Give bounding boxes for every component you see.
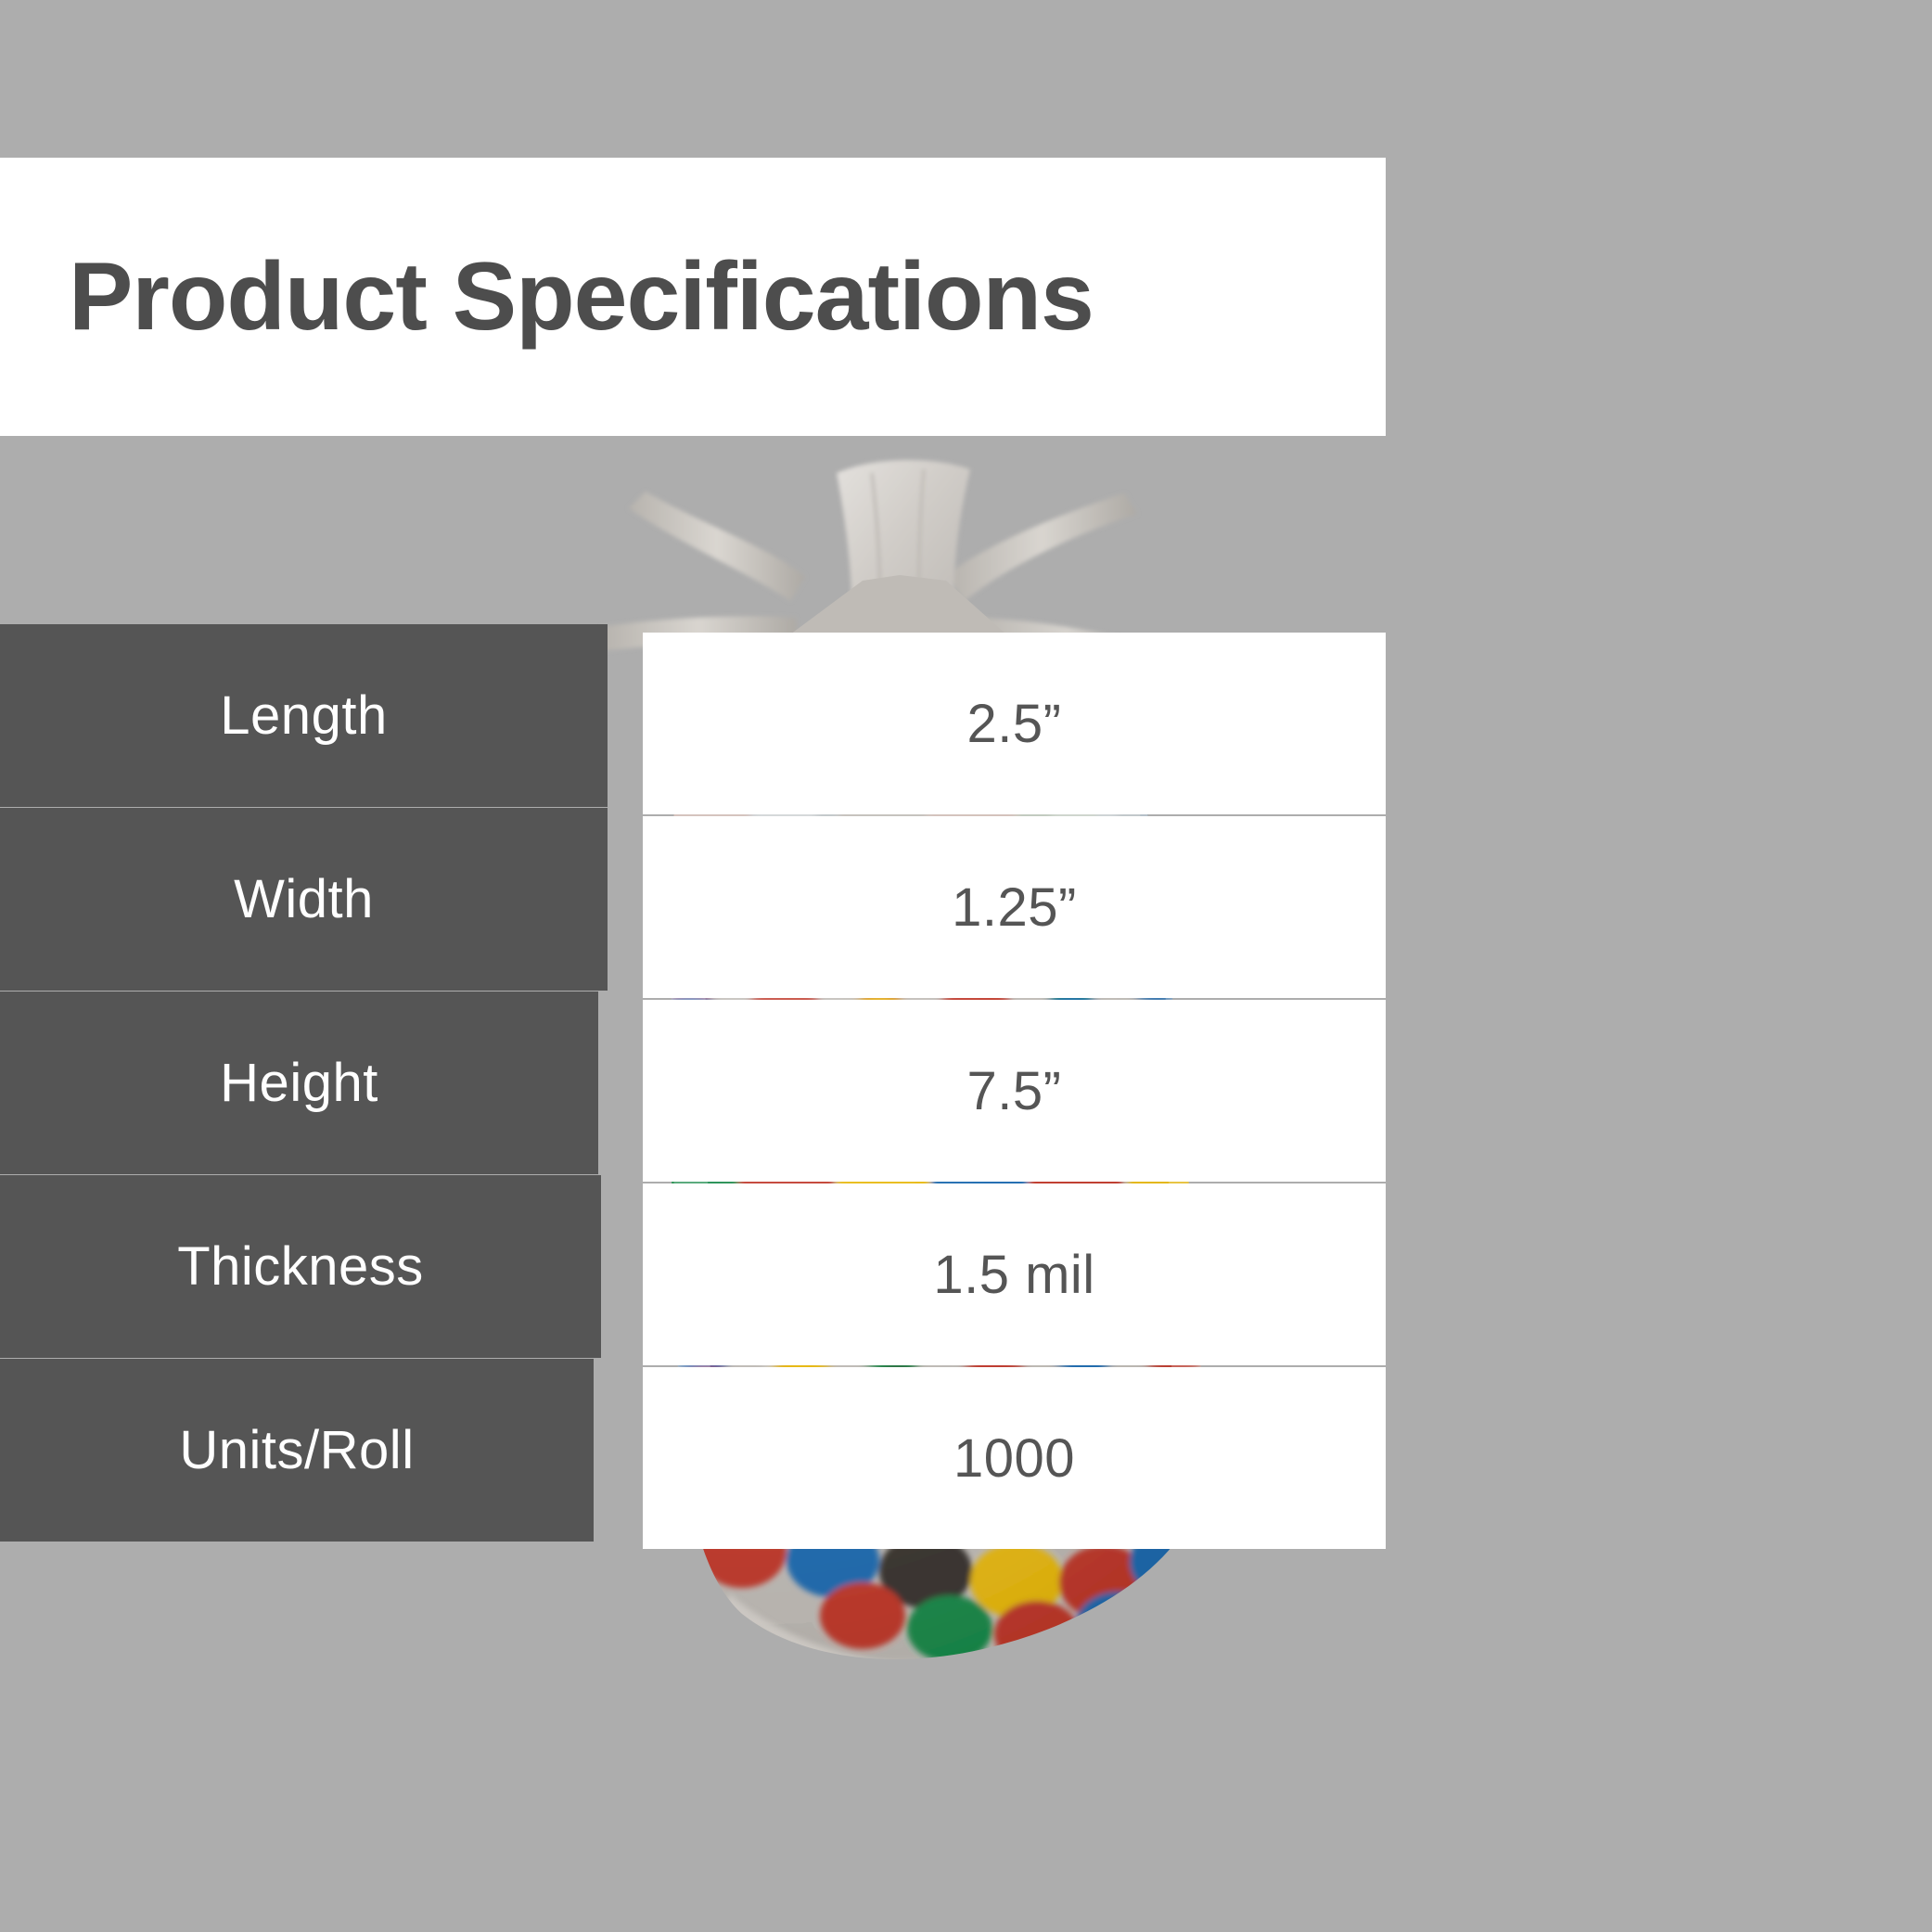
spec-row: Units/Roll 1000 bbox=[0, 1356, 1386, 1542]
page-title: Product Specifications bbox=[69, 249, 1094, 345]
spec-label-length: Length bbox=[0, 624, 608, 807]
spec-label-units-per-roll: Units/Roll bbox=[0, 1359, 594, 1542]
spec-label-height: Height bbox=[0, 992, 598, 1174]
title-banner: Product Specifications bbox=[0, 158, 1386, 436]
infographic-canvas: Product Specifications Length 2.5” Width… bbox=[0, 0, 1932, 1932]
spec-row: Thickness 1.5 mil bbox=[0, 1172, 1386, 1358]
spec-row: Width 1.25” bbox=[0, 805, 1386, 991]
spec-value-thickness: 1.5 mil bbox=[643, 1184, 1386, 1365]
spec-value-width: 1.25” bbox=[643, 816, 1386, 998]
spec-value-length: 2.5” bbox=[643, 633, 1386, 814]
spec-row: Length 2.5” bbox=[0, 621, 1386, 807]
spec-label-width: Width bbox=[0, 808, 608, 991]
spec-row: Height 7.5” bbox=[0, 989, 1386, 1174]
spec-value-units-per-roll: 1000 bbox=[643, 1367, 1386, 1549]
spec-value-height: 7.5” bbox=[643, 1000, 1386, 1182]
spec-label-thickness: Thickness bbox=[0, 1175, 601, 1358]
